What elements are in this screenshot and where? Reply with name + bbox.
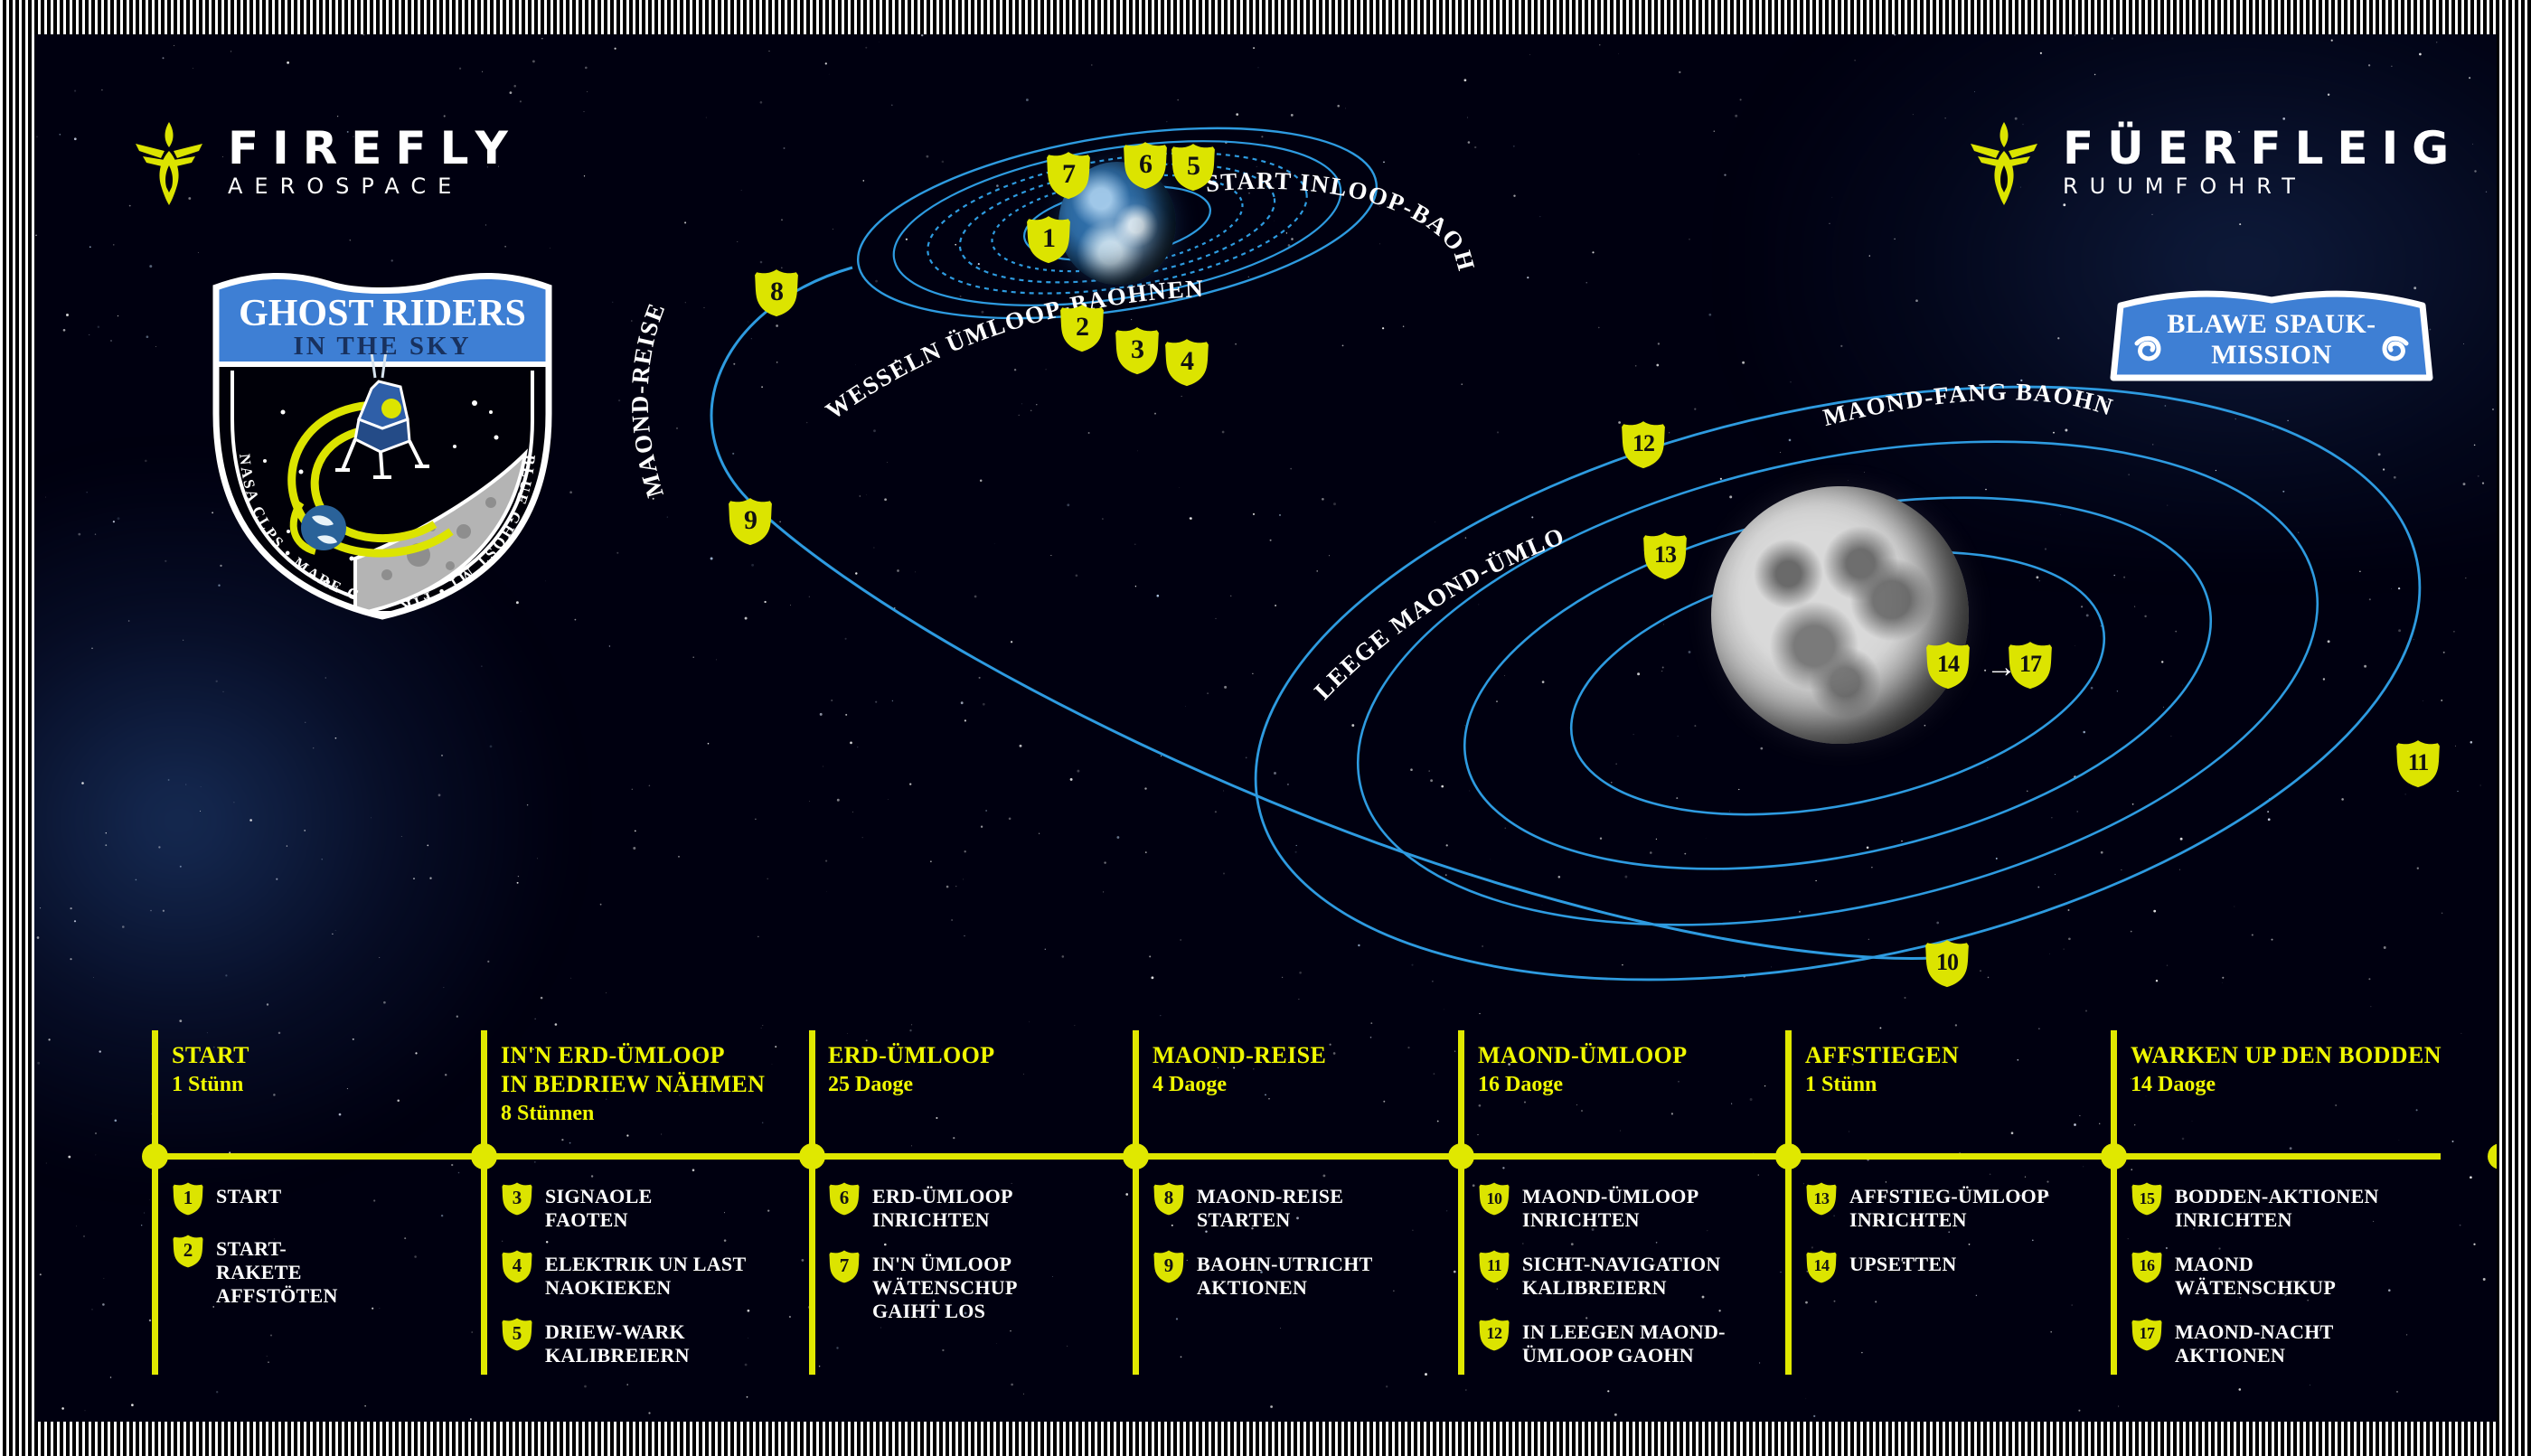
- timeline-item-number: 14: [1814, 1257, 1830, 1275]
- timeline-tick-down-maond-reise: [1133, 1153, 1139, 1375]
- timeline-node-warken-up-den-bodden[interactable]: [2101, 1143, 2127, 1169]
- mission-timeline: START1 Stünn1START2START-RAKETEAFFSTÖTEN…: [34, 1038, 2497, 1422]
- timeline-item-label: START: [216, 1180, 281, 1208]
- diagram-marker-8[interactable]: 8: [753, 268, 800, 318]
- timeline-item-shield-16: 16: [2131, 1249, 2163, 1284]
- timeline-phase-items-in-n-erd-umloop-in-bedriew-nahmen: 3SIGNAOLEFAOTEN4ELEKTRIK UN LASTNAOKIEKE…: [501, 1180, 746, 1384]
- timeline-phase-header-erd-umloop: ERD-ÜMLOOP25 Daoge: [828, 1041, 995, 1099]
- timeline-tick-up-maond-reise: [1133, 1030, 1139, 1153]
- timeline-item-number: 11: [1487, 1257, 1501, 1275]
- timeline-item-number: 1: [183, 1188, 193, 1209]
- timeline-tick-up-maond-umloop: [1458, 1030, 1464, 1153]
- timeline-item-label: IN'N ÜMLOOPWÄTENSCHUPGAIHT LOS: [872, 1248, 1018, 1323]
- timeline-item-number: 7: [840, 1256, 850, 1277]
- diagram-marker-10[interactable]: 10: [1924, 938, 1971, 989]
- timeline-item-8[interactable]: 8MAOND-REISESTARTEN: [1153, 1180, 1373, 1232]
- timeline-item-label: START-RAKETEAFFSTÖTEN: [216, 1233, 338, 1308]
- patch-title-top: GHOST RIDERS: [239, 293, 526, 334]
- timeline-item-shield-9: 9: [1153, 1249, 1185, 1284]
- timeline-item-label: SIGNAOLEFAOTEN: [545, 1180, 653, 1232]
- diagram-marker-number: 8: [770, 278, 783, 308]
- timeline-item-7[interactable]: 7IN'N ÜMLOOPWÄTENSCHUPGAIHT LOS: [828, 1248, 1018, 1323]
- diagram-marker-11[interactable]: 11: [2395, 738, 2442, 789]
- timeline-item-shield-15: 15: [2131, 1181, 2163, 1216]
- poster-frame: START INLOOP-BAOHN WESSELN ÜMLOOP-BAOHNE…: [0, 0, 2531, 1456]
- timeline-item-label: DRIEW-WARKKALIBREIERN: [545, 1316, 690, 1367]
- diagram-marker-14[interactable]: 14: [1924, 640, 1971, 690]
- timeline-item-number: 15: [2140, 1190, 2155, 1208]
- timeline-tick-up-warken-up-den-bodden: [2111, 1030, 2117, 1153]
- timeline-tick-up-in-n-erd-umloop-in-bedriew-nahmen: [481, 1030, 487, 1153]
- timeline-phase-title: ERD-ÜMLOOP: [828, 1041, 995, 1070]
- timeline-item-9[interactable]: 9BAOHN-UTRICHTAKTIONEN: [1153, 1248, 1373, 1300]
- timeline-tick-down-warken-up-den-bodden: [2111, 1153, 2117, 1375]
- timeline-phase-title: IN'N ERD-ÜMLOOP: [501, 1041, 765, 1070]
- diagram-marker-number: 6: [1139, 151, 1152, 181]
- timeline-item-3[interactable]: 3SIGNAOLEFAOTEN: [501, 1180, 746, 1232]
- timeline-item-label: ERD-ÜMLOOPINRICHTEN: [872, 1180, 1013, 1232]
- timeline-item-shield-11: 11: [1478, 1249, 1510, 1284]
- diagram-marker-13[interactable]: 13: [1642, 531, 1689, 581]
- timeline-item-label: MAOND-ÜMLOOPINRICHTEN: [1522, 1180, 1698, 1232]
- timeline-phase-items-maond-reise: 8MAOND-REISESTARTEN9BAOHN-UTRICHTAKTIONE…: [1153, 1180, 1373, 1316]
- timeline-item-label: UPSETTEN: [1849, 1248, 1957, 1276]
- timeline-node-end: [2488, 1143, 2497, 1169]
- diagram-marker-12[interactable]: 12: [1620, 419, 1667, 470]
- timeline-phase-items-maond-umloop: 10MAOND-ÜMLOOPINRICHTEN11SICHT-NAVIGATIO…: [1478, 1180, 1726, 1384]
- timeline-item-number: 17: [2140, 1325, 2155, 1343]
- timeline-item-shield-2: 2: [172, 1234, 204, 1269]
- timeline-phase-duration: 14 Daoge: [2131, 1071, 2442, 1099]
- timeline-item-label: BODDEN-AKTIONENINRICHTEN: [2175, 1180, 2379, 1232]
- orbit-label-maond-fang-baohn: MAOND-FANG BAOHN: [1821, 378, 2117, 431]
- timeline-phase-duration: 4 Daoge: [1153, 1071, 1326, 1099]
- timeline-node-maond-umloop[interactable]: [1448, 1143, 1474, 1169]
- timeline-item-shield-7: 7: [828, 1249, 861, 1284]
- timeline-phase-duration: 1 Stünn: [172, 1071, 249, 1099]
- timeline-phase-duration: 16 Daoge: [1478, 1071, 1688, 1099]
- diagram-marker-number: 14: [1937, 653, 1959, 679]
- timeline-item-12[interactable]: 12IN LEEGEN MAOND-ÜMLOOP GAOHN: [1478, 1316, 1726, 1367]
- patch-title-bottom: IN THE SKY: [293, 332, 471, 361]
- diagram-marker-1[interactable]: 1: [1025, 214, 1072, 265]
- diagram-marker-number: 9: [744, 507, 757, 537]
- timeline-item-11[interactable]: 11SICHT-NAVIGATIONKALIBREIERN: [1478, 1248, 1726, 1300]
- timeline-item-shield-14: 14: [1805, 1249, 1838, 1284]
- timeline-item-shield-4: 4: [501, 1249, 533, 1284]
- timeline-item-shield-10: 10: [1478, 1181, 1510, 1216]
- timeline-item-label: BAOHN-UTRICHTAKTIONEN: [1197, 1248, 1373, 1300]
- brand-sub-right: RUUMFOHRT: [2063, 172, 2462, 202]
- timeline-item-number: 16: [2140, 1257, 2155, 1275]
- timeline-item-4[interactable]: 4ELEKTRIK UN LASTNAOKIEKEN: [501, 1248, 746, 1300]
- timeline-item-label: AFFSTIEG-ÜMLOOPINRICHTEN: [1849, 1180, 2049, 1232]
- diagram-marker-number: 7: [1062, 161, 1075, 191]
- timeline-item-number: 13: [1814, 1190, 1830, 1208]
- timeline-phase-header-maond-reise: MAOND-REISE4 Daoge: [1153, 1041, 1326, 1099]
- timeline-item-label: IN LEEGEN MAOND-ÜMLOOP GAOHN: [1522, 1316, 1726, 1367]
- moon-globe: [1711, 486, 1969, 744]
- timeline-phase-header-maond-umloop: MAOND-ÜMLOOP16 Daoge: [1478, 1041, 1688, 1099]
- timeline-phase-title: MAOND-ÜMLOOP: [1478, 1041, 1688, 1070]
- poster-stage: START INLOOP-BAOHN WESSELN ÜMLOOP-BAOHNE…: [34, 34, 2497, 1422]
- mission-banner-line-1: BLAWE SPAUK-: [2167, 309, 2376, 340]
- timeline-item-shield-13: 13: [1805, 1181, 1838, 1216]
- timeline-item-shield-6: 6: [828, 1181, 861, 1216]
- timeline-item-15[interactable]: 15BODDEN-AKTIONENINRICHTEN: [2131, 1180, 2379, 1232]
- timeline-phase-items-start: 1START2START-RAKETEAFFSTÖTEN: [172, 1180, 338, 1324]
- timeline-item-10[interactable]: 10MAOND-ÜMLOOPINRICHTEN: [1478, 1180, 1726, 1232]
- timeline-phase-title: AFFSTIEGEN: [1805, 1041, 1959, 1070]
- timeline-phase-title: IN BEDRIEW NÄHMEN: [501, 1070, 765, 1099]
- timeline-phase-title: MAOND-REISE: [1153, 1041, 1326, 1070]
- brand-name-left: FIREFLY: [228, 125, 522, 173]
- timeline-item-2[interactable]: 2START-RAKETEAFFSTÖTEN: [172, 1233, 338, 1308]
- diagram-marker-number: 1: [1042, 225, 1055, 255]
- timeline-phase-header-warken-up-den-bodden: WARKEN UP DEN BODDEN14 Daoge: [2131, 1041, 2442, 1099]
- timeline-node-start[interactable]: [142, 1143, 168, 1169]
- timeline-item-shield-8: 8: [1153, 1181, 1185, 1216]
- timeline-tick-up-affstiegen: [1785, 1030, 1792, 1153]
- timeline-tick-down-affstiegen: [1785, 1153, 1792, 1375]
- diagram-marker-number: 11: [2408, 751, 2429, 777]
- timeline-phase-items-affstiegen: 13AFFSTIEG-ÜMLOOPINRICHTEN14UPSETTEN: [1805, 1180, 2049, 1301]
- timeline-item-shield-5: 5: [501, 1317, 533, 1352]
- timeline-phase-duration: 1 Stünn: [1805, 1071, 1959, 1099]
- timeline-tick-down-maond-umloop: [1458, 1153, 1464, 1375]
- timeline-phase-duration: 25 Daoge: [828, 1071, 995, 1099]
- timeline-phase-header-start: START1 Stünn: [172, 1041, 249, 1099]
- diagram-marker-number: 5: [1187, 153, 1200, 183]
- diagram-marker-6[interactable]: 6: [1122, 140, 1169, 191]
- timeline-item-number: 4: [513, 1256, 522, 1277]
- orbit-label-maond-reise: MAOND-REISE: [626, 298, 671, 500]
- mission-banner-badge: BLAWE SPAUK- MISSION: [2104, 289, 2439, 387]
- timeline-item-number: 3: [513, 1188, 522, 1209]
- diagram-marker-number: 3: [1131, 336, 1143, 366]
- diagram-marker-number: 17: [2019, 653, 2041, 679]
- timeline-node-erd-umloop[interactable]: [799, 1143, 825, 1169]
- timeline-item-number: 10: [1487, 1190, 1502, 1208]
- firefly-logo-icon: [134, 120, 204, 207]
- timeline-item-number: 5: [513, 1324, 522, 1345]
- timeline-item-1[interactable]: 1START: [172, 1180, 338, 1216]
- diagram-marker-number: 13: [1654, 543, 1676, 569]
- timeline-phase-duration: 8 Stünnen: [501, 1100, 765, 1128]
- timeline-item-label: MAOND-REISESTARTEN: [1197, 1180, 1343, 1232]
- timeline-node-affstiegen[interactable]: [1775, 1143, 1802, 1169]
- firefly-brand-left: FIREFLY AEROSPACE: [134, 120, 522, 207]
- timeline-node-maond-reise[interactable]: [1123, 1143, 1149, 1169]
- timeline-item-shield-17: 17: [2131, 1317, 2163, 1352]
- timeline-item-13[interactable]: 13AFFSTIEG-ÜMLOOPINRICHTEN: [1805, 1180, 2049, 1232]
- marker-transition-arrow: →: [1986, 653, 2017, 683]
- timeline-tick-down-erd-umloop: [809, 1153, 815, 1375]
- diagram-marker-number: 12: [1632, 432, 1654, 458]
- timeline-item-number: 6: [840, 1188, 850, 1209]
- firefly-logo-icon: [1969, 120, 2039, 207]
- timeline-phase-title: WARKEN UP DEN BODDEN: [2131, 1041, 2442, 1070]
- timeline-item-label: MAOND-NACHTAKTIONEN: [2175, 1316, 2334, 1367]
- timeline-phase-header-in-n-erd-umloop-in-bedriew-nahmen: IN'N ERD-ÜMLOOPIN BEDRIEW NÄHMEN8 Stünne…: [501, 1041, 765, 1129]
- timeline-phase-items-warken-up-den-bodden: 15BODDEN-AKTIONENINRICHTEN16MAONDWÄTENSC…: [2131, 1180, 2379, 1384]
- firefly-brand-right: FÜERFLEIG RUUMFOHRT: [1969, 120, 2462, 207]
- timeline-tick-up-erd-umloop: [809, 1030, 815, 1153]
- diagram-marker-7[interactable]: 7: [1045, 150, 1092, 201]
- mission-patch: GHOST RIDERS IN THE SKY NASA CLPS • MARE…: [193, 260, 572, 622]
- timeline-item-label: SICHT-NAVIGATIONKALIBREIERN: [1522, 1248, 1721, 1300]
- diagram-marker-5[interactable]: 5: [1170, 142, 1217, 193]
- timeline-item-number: 12: [1487, 1325, 1502, 1343]
- timeline-phase-items-erd-umloop: 6ERD-ÜMLOOPINRICHTEN7IN'N ÜMLOOPWÄTENSCH…: [828, 1180, 1018, 1339]
- timeline-tick-up-start: [152, 1030, 158, 1153]
- timeline-item-17[interactable]: 17MAOND-NACHTAKTIONEN: [2131, 1316, 2379, 1367]
- timeline-tick-down-in-n-erd-umloop-in-bedriew-nahmen: [481, 1153, 487, 1375]
- mission-banner-line-2: MISSION: [2211, 340, 2332, 371]
- diagram-marker-number: 4: [1181, 348, 1193, 378]
- timeline-item-shield-1: 1: [172, 1181, 204, 1216]
- diagram-marker-number: 10: [1936, 951, 1958, 977]
- diagram-marker-number: 2: [1076, 314, 1088, 343]
- timeline-tick-down-start: [152, 1153, 158, 1375]
- timeline-phase-title: START: [172, 1041, 249, 1070]
- diagram-marker-4[interactable]: 4: [1163, 337, 1210, 388]
- timeline-item-number: 9: [1164, 1256, 1174, 1277]
- timeline-item-6[interactable]: 6ERD-ÜMLOOPINRICHTEN: [828, 1180, 1018, 1232]
- timeline-item-number: 2: [183, 1241, 193, 1262]
- timeline-item-5[interactable]: 5DRIEW-WARKKALIBREIERN: [501, 1316, 746, 1367]
- timeline-item-16[interactable]: 16MAONDWÄTENSCHKUP: [2131, 1248, 2379, 1300]
- brand-name-right: FÜERFLEIG: [2063, 125, 2462, 173]
- timeline-item-shield-3: 3: [501, 1181, 533, 1216]
- diagram-marker-9[interactable]: 9: [727, 496, 774, 547]
- timeline-item-number: 8: [1164, 1188, 1174, 1209]
- timeline-item-label: ELEKTRIK UN LASTNAOKIEKEN: [545, 1248, 746, 1300]
- diagram-marker-2[interactable]: 2: [1059, 303, 1106, 353]
- brand-sub-left: AEROSPACE: [228, 172, 522, 202]
- timeline-phase-header-affstiegen: AFFSTIEGEN1 Stünn: [1805, 1041, 1959, 1099]
- timeline-item-label: MAONDWÄTENSCHKUP: [2175, 1248, 2336, 1300]
- timeline-item-14[interactable]: 14UPSETTEN: [1805, 1248, 2049, 1284]
- timeline-node-in-n-erd-umloop-in-bedriew-nahmen[interactable]: [471, 1143, 497, 1169]
- diagram-marker-3[interactable]: 3: [1114, 325, 1161, 376]
- timeline-item-shield-12: 12: [1478, 1317, 1510, 1352]
